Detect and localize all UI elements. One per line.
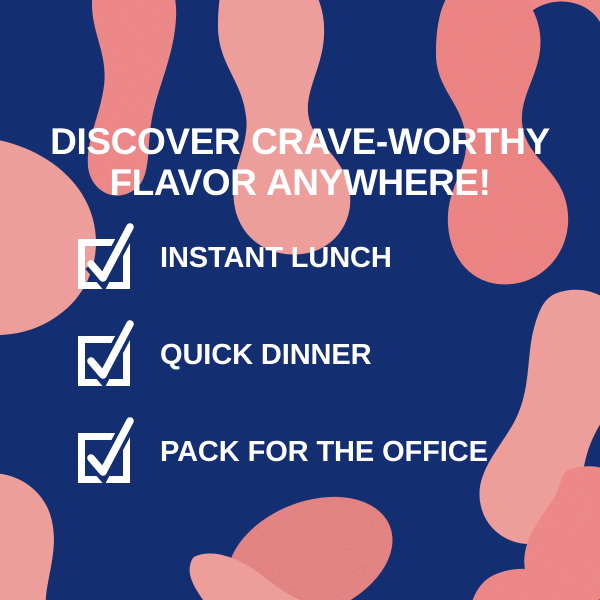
list-item-label: PACK FOR THE OFFICE [160,436,488,467]
checked-checkbox-icon [78,423,134,479]
list-item: PACK FOR THE OFFICE [78,422,488,480]
page-title: DISCOVER CRAVE-WORTHY FLAVOR ANYWHERE! [0,121,600,203]
headline-line-1: DISCOVER CRAVE-WORTHY [50,121,550,162]
list-item: INSTANT LUNCH [78,228,488,286]
list-item: QUICK DINNER [78,325,488,383]
list-item-label: QUICK DINNER [160,339,371,370]
checked-checkbox-icon [78,229,134,285]
list-item-label: INSTANT LUNCH [160,242,392,273]
headline-line-2: FLAVOR ANYWHERE! [0,162,600,203]
checked-checkbox-icon [78,326,134,382]
benefits-checklist: INSTANT LUNCH QUICK DINNER [78,228,488,480]
promo-poster: DISCOVER CRAVE-WORTHY FLAVOR ANYWHERE! I… [0,0,600,600]
poster-content: DISCOVER CRAVE-WORTHY FLAVOR ANYWHERE! I… [0,0,600,600]
